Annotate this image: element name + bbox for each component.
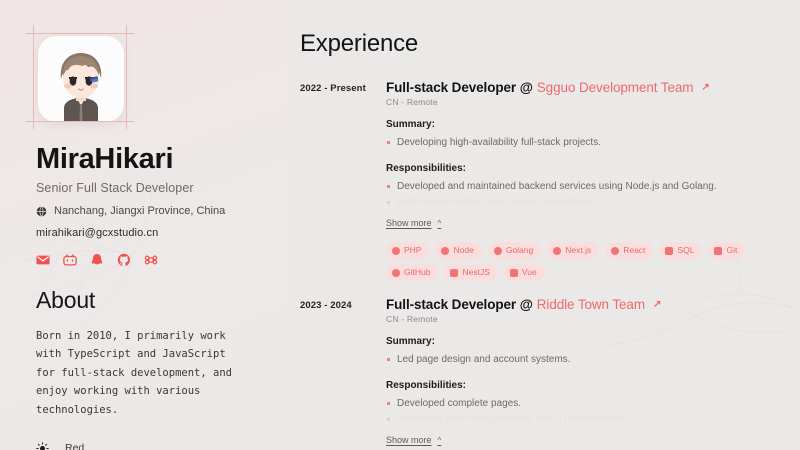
about-heading: About — [36, 287, 290, 314]
php-icon — [392, 247, 400, 255]
sun-icon — [36, 442, 49, 450]
job-date: 2023 - 2024 — [300, 297, 386, 311]
tech-tag-list: PHP Node Golang Next.js React SQL Git Gi… — [386, 242, 788, 281]
about-text: Born in 2010, I primarily work with Type… — [36, 327, 241, 419]
experience-panel: Experience 2022 - Present Full-stack Dev… — [290, 0, 800, 450]
list-item: Developing high-availability full-stack … — [386, 135, 788, 151]
tech-tag[interactable]: GitHub — [386, 264, 438, 281]
job-location: CN - Remote — [386, 314, 788, 324]
show-more-toggle[interactable]: Show more ^ — [386, 435, 441, 445]
tech-tag[interactable]: Node — [435, 242, 481, 259]
job-company-link[interactable]: Sgguo Development Team — [537, 80, 694, 95]
tech-tag-label: Node — [453, 244, 473, 257]
list-item-hidden: Built internal tooling and service integ… — [386, 195, 788, 211]
job-title-row: Full-stack Developer @ Riddle Town Team … — [386, 297, 788, 312]
list-item: Developed complete pages. — [386, 396, 788, 412]
tech-tag-label: PHP — [404, 244, 421, 257]
tech-tag[interactable]: Vue — [504, 264, 545, 281]
nestjs-icon — [450, 269, 458, 277]
tech-tag-label: Next.js — [565, 244, 591, 257]
tech-tag-label: Vue — [522, 266, 537, 279]
tech-tag[interactable]: Next.js — [547, 242, 599, 259]
responsibilities-label: Responsibilities: — [386, 380, 788, 391]
summary-list: Led page design and account systems. — [386, 352, 788, 368]
avatar-illustration — [44, 46, 118, 122]
location-row: Nanchang, Jiangxi Province, China — [36, 205, 290, 217]
globe-icon — [36, 206, 47, 217]
tech-tag[interactable]: Git — [708, 242, 745, 259]
job-date: 2022 - Present — [300, 80, 386, 94]
resume-page: MiraHikari Senior Full Stack Developer N… — [0, 0, 800, 450]
qq-icon[interactable] — [90, 253, 104, 267]
show-more-label: Show more — [386, 435, 432, 445]
responsibilities-collapsed: Developed and maintained backend service… — [386, 179, 788, 211]
tech-tag-label: Golang — [506, 244, 533, 257]
theme-label: Red — [65, 442, 84, 450]
job-company-link[interactable]: Riddle Town Team — [537, 297, 645, 312]
external-link-icon[interactable]: ↗ — [701, 82, 709, 93]
vue-icon — [510, 269, 518, 277]
social-links — [36, 253, 290, 267]
guide-line-vertical-right — [126, 25, 127, 129]
tech-tag[interactable]: React — [605, 242, 653, 259]
react-icon — [611, 247, 619, 255]
summary-label: Summary: — [386, 336, 788, 347]
job-title-text: Full-stack Developer @ — [386, 80, 533, 95]
external-link-icon[interactable]: ↗ — [653, 299, 661, 310]
theme-switcher[interactable]: Red — [36, 442, 290, 450]
email-text[interactable]: mirahikari@gcxstudio.cn — [36, 227, 290, 239]
sql-icon — [665, 247, 673, 255]
responsibilities-collapsed: Developed complete pages. Integrated use… — [386, 396, 788, 428]
tech-tag-label: GitHub — [404, 266, 430, 279]
mail-icon[interactable] — [36, 253, 50, 267]
experience-heading: Experience — [300, 30, 788, 58]
list-item-hidden: Integrated user facing features with a m… — [386, 412, 788, 428]
responsibilities-list: Developed complete pages. Integrated use… — [386, 396, 788, 428]
tech-tag-label: React — [623, 244, 645, 257]
github-icon[interactable] — [117, 253, 131, 267]
responsibilities-list: Developed and maintained backend service… — [386, 179, 788, 211]
tech-tag[interactable]: NestJS — [444, 264, 497, 281]
nextjs-icon — [553, 247, 561, 255]
guide-line-vertical-left — [33, 25, 34, 129]
guide-line-horizontal-bottom — [26, 121, 134, 122]
tech-tag-label: NestJS — [462, 266, 489, 279]
github-icon — [392, 269, 400, 277]
tech-tag[interactable]: SQL — [659, 242, 702, 259]
tech-tag[interactable]: Golang — [488, 242, 541, 259]
summary-list: Developing high-availability full-stack … — [386, 135, 788, 151]
experience-item: 2023 - 2024 Full-stack Developer @ Riddl… — [300, 297, 788, 450]
guide-line-horizontal-top — [26, 33, 134, 34]
responsibilities-label: Responsibilities: — [386, 163, 788, 174]
avatar[interactable] — [38, 36, 124, 122]
node-icon — [441, 247, 449, 255]
job-title-text: Full-stack Developer @ — [386, 297, 533, 312]
command-icon[interactable] — [144, 253, 158, 267]
list-item: Led page design and account systems. — [386, 352, 788, 368]
job-location: CN - Remote — [386, 97, 788, 107]
tech-tag-label: SQL — [677, 244, 694, 257]
bilibili-icon[interactable] — [63, 253, 77, 267]
summary-label: Summary: — [386, 119, 788, 130]
chevron-up-icon: ^ — [438, 436, 442, 445]
job-title-row: Full-stack Developer @ Sgguo Development… — [386, 80, 788, 95]
experience-item: 2022 - Present Full-stack Developer @ Sg… — [300, 80, 788, 281]
list-item: Developed and maintained backend service… — [386, 179, 788, 195]
golang-icon — [494, 247, 502, 255]
git-icon — [714, 247, 722, 255]
show-more-label: Show more — [386, 218, 432, 228]
show-more-toggle[interactable]: Show more ^ — [386, 218, 441, 228]
tech-tag[interactable]: PHP — [386, 242, 429, 259]
profile-role: Senior Full Stack Developer — [36, 181, 290, 195]
page-title: MiraHikari — [36, 143, 290, 176]
chevron-up-icon: ^ — [438, 219, 442, 228]
location-text: Nanchang, Jiangxi Province, China — [54, 205, 225, 217]
profile-sidebar: MiraHikari Senior Full Stack Developer N… — [0, 0, 290, 450]
tech-tag-label: Git — [726, 244, 737, 257]
